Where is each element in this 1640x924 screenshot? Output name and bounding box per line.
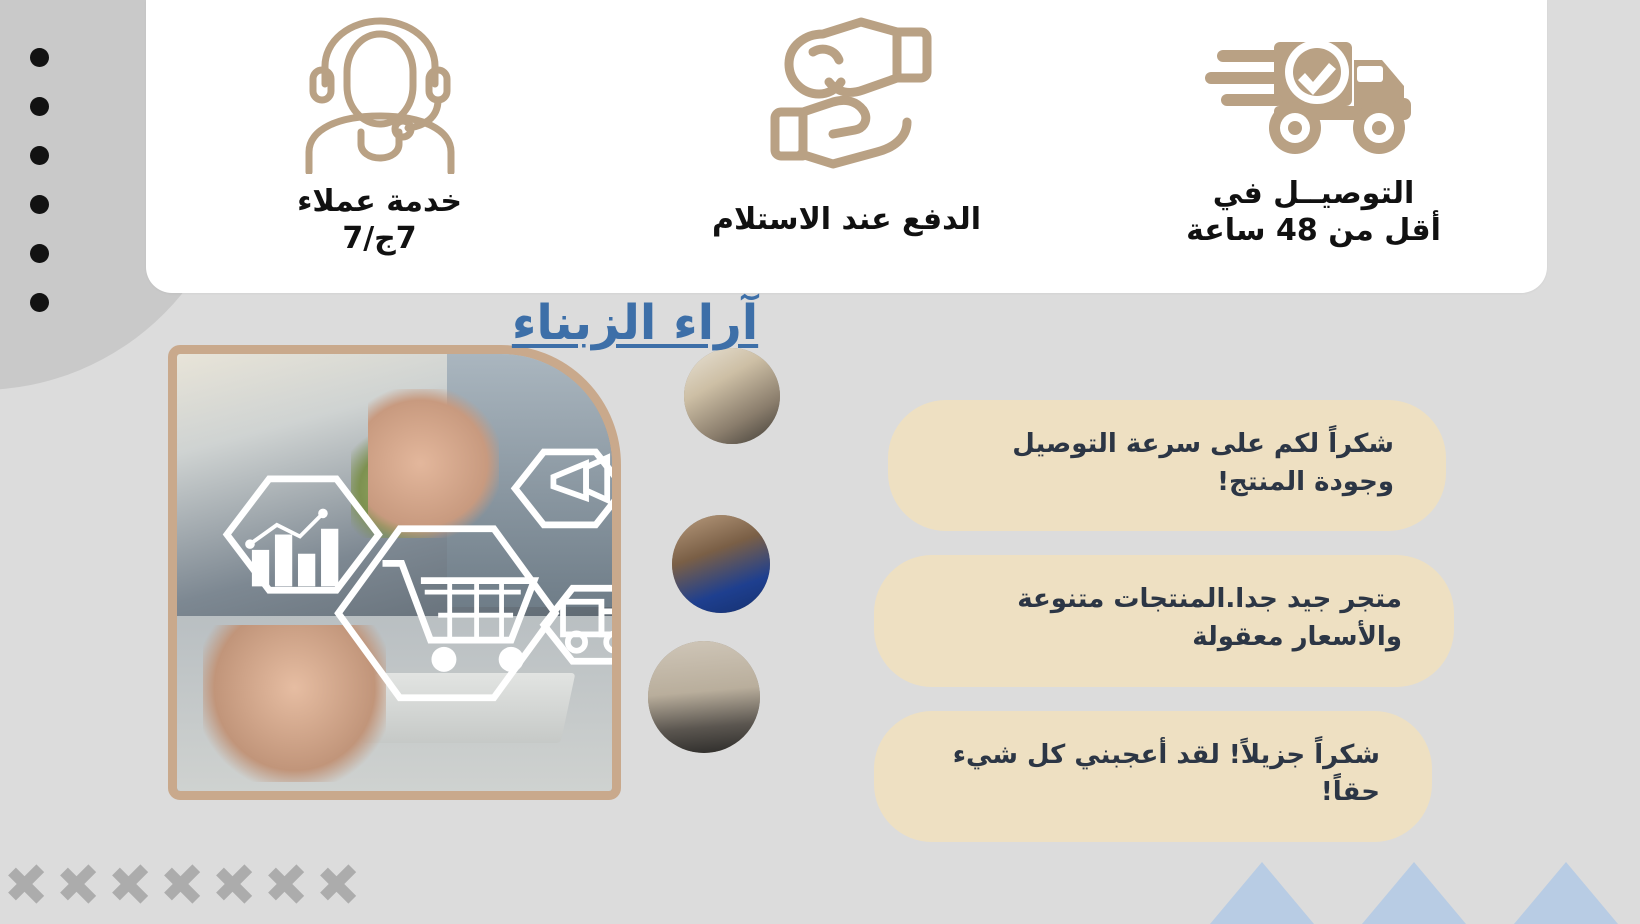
decorative-dot — [30, 48, 49, 67]
testimonial-bubble: شكراً لكم على سرعة التوصيل وجودة المنتج! — [888, 400, 1446, 531]
feature-cod-caption: الدفع عند الاستلام — [712, 202, 981, 239]
testimonial-bubble: شكراً جزيلاً! لقد أعجبني كل شيء حقاً! — [874, 711, 1432, 842]
customer-avatar — [648, 641, 760, 753]
customer-avatar — [672, 515, 770, 613]
avatar-image — [672, 515, 770, 613]
feature-caption-line1: الدفع عند الاستلام — [712, 202, 981, 239]
testimonial-item: متجر جيد جدا.المنتجات متنوعة والأسعار مع… — [760, 555, 1460, 686]
testimonials-list: شكراً لكم على سرعة التوصيل وجودة المنتج!… — [760, 400, 1460, 866]
decorative-dot — [30, 195, 49, 214]
triangle-icon — [1210, 862, 1314, 924]
decorative-dot — [30, 146, 49, 165]
decorative-chevron-row — [12, 856, 356, 912]
feature-delivery: التوصيــل في أقل من 48 ساعة — [1080, 0, 1547, 293]
avatar-image — [684, 348, 780, 444]
testimonial-bubble: متجر جيد جدا.المنتجات متنوعة والأسعار مع… — [874, 555, 1454, 686]
feature-service-caption: خدمة عملاء 7ج/7 — [297, 184, 462, 257]
feature-caption-line1: التوصيــل في — [1186, 176, 1441, 213]
chevron-right-icon — [64, 856, 96, 912]
feature-caption-line1: خدمة عملاء — [297, 184, 462, 221]
feature-caption-line2: أقل من 48 ساعة — [1186, 213, 1441, 250]
section-title: آراء الزبناء — [0, 295, 1640, 351]
product-showcase-image — [168, 345, 621, 800]
feature-delivery-caption: التوصيــل في أقل من 48 ساعة — [1186, 176, 1441, 249]
triangle-icon — [1362, 862, 1466, 924]
chevron-right-icon — [168, 856, 200, 912]
chevron-right-icon — [272, 856, 304, 912]
customer-avatar — [684, 348, 780, 444]
delivery-truck-icon — [1199, 14, 1429, 174]
avatar-image — [648, 641, 760, 753]
feature-cash-on-delivery: الدفع عند الاستلام — [613, 0, 1080, 293]
section-title-text: آراء الزبناء — [512, 295, 758, 351]
decorative-dot — [30, 97, 49, 116]
triangle-icon — [1514, 862, 1618, 924]
feature-customer-service: خدمة عملاء 7ج/7 — [146, 0, 613, 293]
chevron-right-icon — [116, 856, 148, 912]
decorative-triangle-row — [1210, 862, 1618, 924]
decorative-dot — [30, 244, 49, 263]
feature-caption-line2: 7ج/7 — [297, 221, 462, 258]
testimonial-item: شكراً جزيلاً! لقد أعجبني كل شيء حقاً! — [760, 711, 1460, 842]
customer-service-headset-icon — [295, 14, 465, 174]
features-card: التوصيــل في أقل من 48 ساعة — [146, 0, 1547, 293]
testimonial-item: شكراً لكم على سرعة التوصيل وجودة المنتج! — [760, 400, 1460, 531]
chevron-right-icon — [12, 856, 44, 912]
chevron-right-icon — [220, 856, 252, 912]
cash-on-delivery-hands-icon — [747, 14, 947, 174]
photo-hex-overlay — [177, 354, 612, 791]
slide-canvas: التوصيــل في أقل من 48 ساعة — [0, 0, 1640, 924]
chevron-right-icon — [324, 856, 356, 912]
